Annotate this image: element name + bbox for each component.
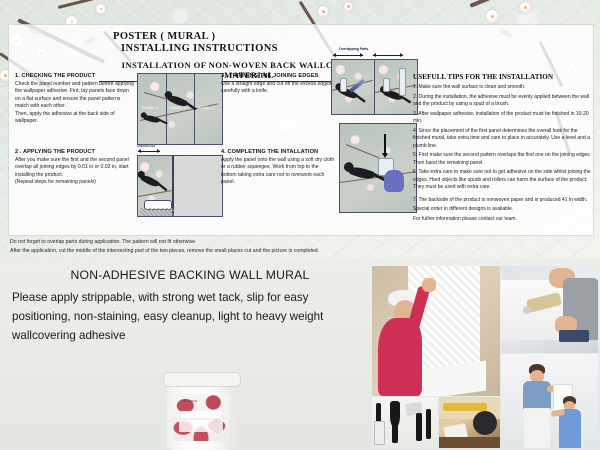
- photo-man-and-boy-hanging-mural: [501, 354, 598, 448]
- bucket-lid: [163, 372, 241, 387]
- bucket-label-text: ADHESIVE: [182, 399, 197, 403]
- step-1-heading: 1. CHECKING THE PRODUCT: [15, 73, 135, 79]
- footer-note-1: Do not forget to overlap parts during ap…: [10, 238, 580, 247]
- step-1-block: 1. CHECKING THE PRODUCT Check the panel …: [15, 73, 135, 125]
- photo-collage: [372, 266, 598, 448]
- promo-body: Please apply strippable, with strong wet…: [12, 288, 368, 345]
- overlap-dimension-line-2: [373, 55, 403, 56]
- photo-tool-set: [372, 397, 438, 448]
- tip-item-4: 4. Since the placement of the first pane…: [413, 128, 591, 151]
- footer-notes: Do not forget to overlap parts during ap…: [10, 238, 580, 256]
- step-4-body: Apply the panel onto the wall using a so…: [221, 157, 335, 187]
- step-2-body: After you make sure the first and the se…: [15, 157, 135, 187]
- instruction-sheet: POSTER ( MURAL ) INSTALLING INSTRUCTIONS…: [8, 24, 594, 236]
- tip-item-3: 3. After wallpaper adhesive, installatio…: [413, 111, 591, 126]
- step-1-body: Check the panel number and pattern befor…: [15, 81, 135, 125]
- promo-block: NON-ADHESIVE BACKING WALL MURAL Please a…: [12, 268, 368, 345]
- tips-heading: USEFULL TIPS FOR THE INSTALLATION: [413, 73, 591, 81]
- cutter-icon: [426, 409, 431, 439]
- step-4-heading: 4. COMPLETING THE INTALLATION: [221, 149, 335, 155]
- bucket-label: ADHESIVE: [173, 394, 229, 441]
- panel-measure-indicator: 0.01/0.02 inch: [137, 145, 221, 153]
- panel-2-label: PANEL 2: [170, 106, 186, 110]
- measure-left-label: 0.01/0.02 inch: [137, 144, 155, 148]
- panel-1-label: PANEL 1: [142, 106, 158, 110]
- photo-woman-applying-mural: [372, 266, 500, 396]
- adhesive-tray-diagram: [137, 155, 223, 217]
- step-2-heading: 2 . APPLYING THE PRODUCT: [15, 149, 135, 155]
- adhesive-bucket-image: ADHESIVE: [163, 372, 239, 450]
- tip-item-2: 2. During the installation, the adhesive…: [413, 94, 591, 109]
- panel-3-label: PANEL 3: [198, 106, 214, 110]
- photo-hands-with-roller: [501, 266, 598, 353]
- column-right-tips: USEFULL TIPS FOR THE INSTALLATION 1. Mak…: [413, 73, 591, 225]
- tip-item-5: 5. First make sure the second pattern ov…: [413, 152, 591, 167]
- tip-item-1: 1. Make sure the wall surface is clean a…: [413, 84, 591, 92]
- footer-note-2: After the application, cut the middle of…: [10, 247, 580, 256]
- step-3-heading: 3 . TRIMMING THE JOINING EDGES: [221, 73, 333, 79]
- overlapping-parts-label: Overlapping Parts: [339, 47, 368, 51]
- scraper-icon: [390, 401, 400, 427]
- brush-handle-icon: [376, 403, 381, 423]
- tip-item-8: Special order in different designs is av…: [413, 206, 591, 214]
- photo-paste-table-and-roll: [439, 397, 500, 448]
- completing-diagram: [339, 123, 417, 213]
- down-arrow-icon: [384, 134, 386, 154]
- tip-item-7: 7. The backside of the product is nonwov…: [413, 197, 591, 205]
- promo-heading: NON-ADHESIVE BACKING WALL MURAL: [12, 268, 368, 282]
- tip-item-6: 6. Take extra care to make sure not to g…: [413, 169, 591, 192]
- tip-item-9: For futher information please contact ou…: [413, 216, 591, 224]
- step-3-body: Use a straight edge and cut off the exce…: [221, 81, 333, 96]
- panels-diagram: PANEL 1 PANEL 2 PANEL 3: [137, 73, 223, 145]
- trimming-diagram-left: [331, 59, 375, 115]
- step-3-block: 3 . TRIMMING THE JOINING EDGES Use a str…: [221, 73, 333, 96]
- step-4-block: 4. COMPLETING THE INTALLATION Apply the …: [221, 149, 335, 187]
- trimming-diagram-right: [374, 59, 418, 115]
- step-2-block: 2 . APPLYING THE PRODUCT After you make …: [15, 149, 135, 187]
- overlap-dimension-line: [333, 55, 363, 56]
- instruction-columns: 1. CHECKING THE PRODUCT Check the panel …: [9, 73, 593, 233]
- page-title-line1: POSTER ( MURAL ): [105, 31, 593, 42]
- glove-icon: [384, 170, 404, 192]
